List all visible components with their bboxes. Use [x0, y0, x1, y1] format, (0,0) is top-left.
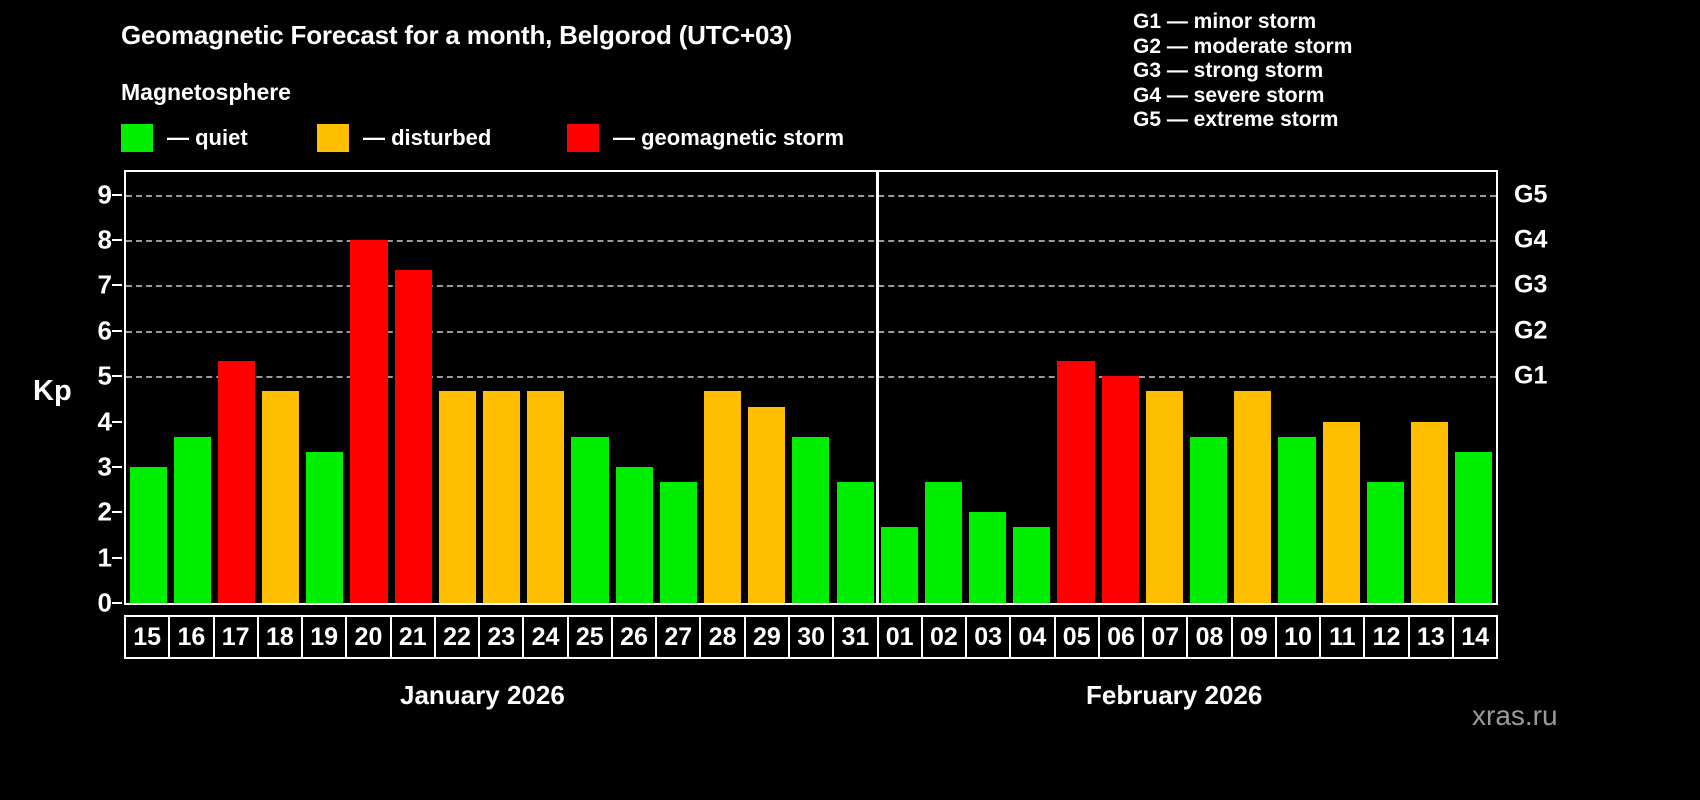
bar-cell[interactable]: [656, 172, 700, 603]
legend-item-storm: — geomagnetic storm: [567, 123, 844, 153]
y-tick-label-6: 6: [98, 315, 112, 346]
y-tick-label-4: 4: [98, 406, 112, 437]
bar-08[interactable]: [1190, 437, 1227, 604]
date-cell-23[interactable]: 23: [478, 615, 522, 659]
bar-series: [126, 172, 1496, 603]
bar-22[interactable]: [439, 391, 476, 603]
bar-14[interactable]: [1455, 452, 1492, 603]
bar-cell[interactable]: [833, 172, 877, 603]
y-tick-label-0: 0: [98, 588, 112, 619]
gscale-row-g4: G4 — severe storm: [1133, 84, 1553, 109]
bar-07[interactable]: [1146, 391, 1183, 603]
date-label: 28: [709, 625, 737, 650]
bar-27[interactable]: [660, 482, 697, 603]
bar-17[interactable]: [218, 361, 255, 603]
green-square-icon: [121, 124, 153, 152]
y-axis: 0123456789: [78, 170, 122, 605]
bar-01[interactable]: [881, 527, 918, 603]
bar-cell[interactable]: [391, 172, 435, 603]
bar-21[interactable]: [395, 270, 432, 603]
date-cell-07[interactable]: 07: [1142, 615, 1186, 659]
bar-24[interactable]: [527, 391, 564, 603]
date-label: 27: [664, 625, 692, 650]
plot-inner: [126, 172, 1496, 603]
page-title: Geomagnetic Forecast for a month, Belgor…: [121, 20, 792, 51]
date-cell-01[interactable]: 01: [877, 615, 921, 659]
date-cell-17[interactable]: 17: [213, 615, 257, 659]
y-tick-mark-2: [112, 511, 122, 513]
date-cell-18[interactable]: 18: [257, 615, 301, 659]
date-label: 31: [841, 625, 869, 650]
date-cell-21[interactable]: 21: [390, 615, 434, 659]
bar-cell[interactable]: [1452, 172, 1496, 603]
bar-cell[interactable]: [1010, 172, 1054, 603]
legend-label-storm: — geomagnetic storm: [613, 125, 844, 151]
legend-label-quiet: — quiet: [167, 125, 248, 151]
date-cell-26[interactable]: 26: [611, 615, 655, 659]
date-cell-13[interactable]: 13: [1408, 615, 1452, 659]
date-label: 12: [1373, 625, 1401, 650]
y-tick-label-1: 1: [98, 542, 112, 573]
y-tick-mark-7: [112, 284, 122, 286]
month-label-february: February 2026: [1086, 680, 1262, 711]
date-label: 26: [620, 625, 648, 650]
bar-cell[interactable]: [524, 172, 568, 603]
bar-cell[interactable]: [700, 172, 744, 603]
bar-cell[interactable]: [1054, 172, 1098, 603]
bar-cell[interactable]: [1142, 172, 1186, 603]
date-cell-06[interactable]: 06: [1098, 615, 1142, 659]
bar-cell[interactable]: [877, 172, 921, 603]
bar-19[interactable]: [306, 452, 343, 603]
magnetosphere-heading: Magnetosphere: [121, 79, 291, 106]
bar-cell[interactable]: [1098, 172, 1142, 603]
date-cell-25[interactable]: 25: [567, 615, 611, 659]
date-label: 21: [399, 625, 427, 650]
bar-cell[interactable]: [170, 172, 214, 603]
date-label: 05: [1063, 625, 1091, 650]
y-tick-mark-1: [112, 557, 122, 559]
date-cell-31[interactable]: 31: [832, 615, 876, 659]
date-cell-08[interactable]: 08: [1186, 615, 1230, 659]
bar-18[interactable]: [262, 391, 299, 603]
bar-10[interactable]: [1278, 437, 1315, 604]
date-cell-24[interactable]: 24: [522, 615, 566, 659]
bar-02[interactable]: [925, 482, 962, 603]
date-cell-15[interactable]: 15: [124, 615, 168, 659]
bar-cell[interactable]: [568, 172, 612, 603]
date-label: 29: [753, 625, 781, 650]
date-cell-14[interactable]: 14: [1452, 615, 1498, 659]
bar-31[interactable]: [837, 482, 874, 603]
date-label: 11: [1329, 625, 1355, 650]
y-tick-label-7: 7: [98, 270, 112, 301]
date-label: 09: [1240, 625, 1268, 650]
date-cell-16[interactable]: 16: [168, 615, 212, 659]
bar-cell[interactable]: [1319, 172, 1363, 603]
bar-cell[interactable]: [303, 172, 347, 603]
bar-30[interactable]: [792, 437, 829, 604]
bar-cell[interactable]: [789, 172, 833, 603]
date-cell-04[interactable]: 04: [1009, 615, 1053, 659]
g-tick-label-G5: G5: [1514, 180, 1547, 209]
date-label: 23: [487, 625, 515, 650]
bar-cell[interactable]: [435, 172, 479, 603]
bar-06[interactable]: [1102, 376, 1139, 603]
y-axis-label: Kp: [33, 375, 72, 408]
date-label: 07: [1151, 625, 1179, 650]
bar-05[interactable]: [1057, 361, 1094, 603]
bar-12[interactable]: [1367, 482, 1404, 603]
date-label: 10: [1284, 625, 1312, 650]
date-cell-11[interactable]: 11: [1319, 615, 1363, 659]
red-square-icon: [567, 124, 599, 152]
orange-square-icon: [317, 124, 349, 152]
date-cell-19[interactable]: 19: [301, 615, 345, 659]
bar-cell[interactable]: [745, 172, 789, 603]
g-tick-label-G3: G3: [1514, 271, 1547, 300]
date-axis: 1516171819202122232425262728293031010203…: [124, 615, 1498, 659]
date-label: 13: [1417, 625, 1445, 650]
date-label: 14: [1461, 625, 1489, 650]
g-tick-label-G1: G1: [1514, 362, 1547, 391]
bar-15[interactable]: [130, 467, 167, 603]
y-tick-mark-5: [112, 375, 122, 377]
bar-cell[interactable]: [1407, 172, 1451, 603]
y-tick-label-9: 9: [98, 179, 112, 210]
bar-13[interactable]: [1411, 422, 1448, 603]
gscale-row-g5: G5 — extreme storm: [1133, 108, 1553, 133]
y-tick-mark-8: [112, 239, 122, 241]
bar-cell[interactable]: [612, 172, 656, 603]
date-cell-22[interactable]: 22: [434, 615, 478, 659]
month-label-january: January 2026: [400, 680, 565, 711]
bar-09[interactable]: [1234, 391, 1271, 603]
gscale-row-g2: G2 — moderate storm: [1133, 35, 1553, 60]
legend-item-quiet: — quiet: [121, 123, 248, 153]
bar-cell[interactable]: [1363, 172, 1407, 603]
y-tick-label-2: 2: [98, 497, 112, 528]
date-cell-02[interactable]: 02: [921, 615, 965, 659]
bar-28[interactable]: [704, 391, 741, 603]
y-tick-mark-6: [112, 330, 122, 332]
bar-cell[interactable]: [921, 172, 965, 603]
legend-label-disturbed: — disturbed: [363, 125, 491, 151]
bar-cell[interactable]: [966, 172, 1010, 603]
gscale-row-g1: G1 — minor storm: [1133, 10, 1553, 35]
date-label: 30: [797, 625, 825, 650]
date-label: 25: [576, 625, 604, 650]
bar-11[interactable]: [1323, 422, 1360, 603]
y-tick-label-8: 8: [98, 225, 112, 256]
plot-area: [124, 170, 1498, 605]
bar-23[interactable]: [483, 391, 520, 603]
date-label: 03: [974, 625, 1002, 650]
date-label: 04: [1019, 625, 1047, 650]
y-tick-mark-9: [112, 194, 122, 196]
bar-25[interactable]: [571, 437, 608, 604]
date-label: 15: [133, 625, 161, 650]
date-label: 08: [1196, 625, 1224, 650]
gscale-legend: G1 — minor storm G2 — moderate storm G3 …: [1133, 10, 1553, 133]
date-label: 16: [177, 625, 205, 650]
y-tick-label-5: 5: [98, 361, 112, 392]
g-tick-label-G4: G4: [1514, 226, 1547, 255]
bar-cell[interactable]: [1187, 172, 1231, 603]
bar-cell[interactable]: [126, 172, 170, 603]
date-cell-10[interactable]: 10: [1275, 615, 1319, 659]
bar-cell[interactable]: [347, 172, 391, 603]
bar-cell[interactable]: [259, 172, 303, 603]
bar-20[interactable]: [350, 240, 387, 603]
date-cell-30[interactable]: 30: [788, 615, 832, 659]
date-cell-05[interactable]: 05: [1054, 615, 1098, 659]
date-cell-29[interactable]: 29: [744, 615, 788, 659]
y-tick-mark-3: [112, 466, 122, 468]
bar-26[interactable]: [616, 467, 653, 603]
date-label: 02: [930, 625, 958, 650]
date-label: 01: [886, 625, 914, 650]
date-label: 20: [355, 625, 383, 650]
g-tick-label-G2: G2: [1514, 316, 1547, 345]
date-cell-20[interactable]: 20: [345, 615, 389, 659]
date-label: 19: [310, 625, 338, 650]
date-cell-27[interactable]: 27: [655, 615, 699, 659]
bar-cell[interactable]: [1275, 172, 1319, 603]
bar-04[interactable]: [1013, 527, 1050, 603]
bar-29[interactable]: [748, 407, 785, 603]
legend-item-disturbed: — disturbed: [317, 123, 491, 153]
y-tick-mark-4: [112, 421, 122, 423]
bar-cell[interactable]: [480, 172, 524, 603]
y-tick-label-3: 3: [98, 451, 112, 482]
date-cell-12[interactable]: 12: [1363, 615, 1407, 659]
date-label: 18: [266, 625, 294, 650]
date-label: 22: [443, 625, 471, 650]
bar-cell[interactable]: [214, 172, 258, 603]
gscale-row-g3: G3 — strong storm: [1133, 59, 1553, 84]
chart-root: Geomagnetic Forecast for a month, Belgor…: [0, 0, 1700, 800]
bar-cell[interactable]: [1231, 172, 1275, 603]
bar-16[interactable]: [174, 437, 211, 604]
date-cell-03[interactable]: 03: [965, 615, 1009, 659]
month-divider: [876, 172, 879, 603]
watermark: xras.ru: [1472, 700, 1558, 732]
date-label: 17: [222, 625, 250, 650]
date-cell-09[interactable]: 09: [1231, 615, 1275, 659]
date-cell-28[interactable]: 28: [699, 615, 743, 659]
date-label: 06: [1107, 625, 1135, 650]
g-axis: G1G2G3G4G5: [1506, 170, 1576, 605]
bar-03[interactable]: [969, 512, 1006, 603]
y-tick-mark-0: [112, 602, 122, 604]
date-label: 24: [532, 625, 560, 650]
